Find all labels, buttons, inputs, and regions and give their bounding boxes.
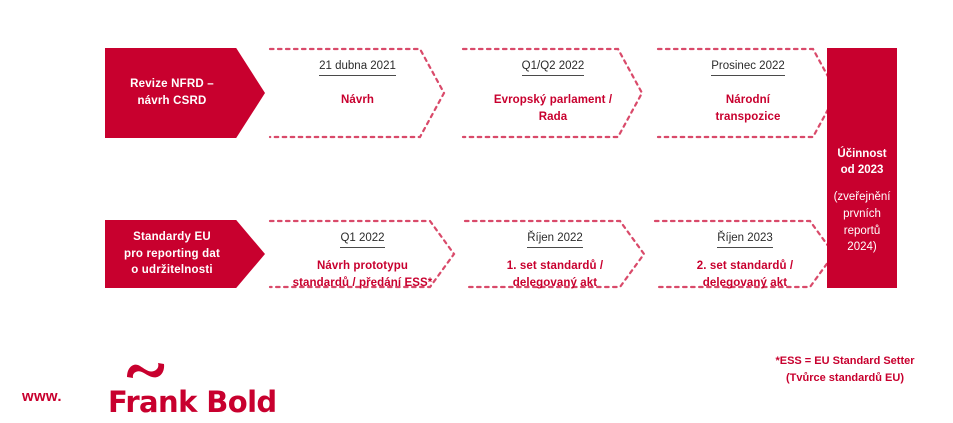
outcome-sub-line2: prvních (843, 208, 881, 220)
stage-csrd-2: Q1/Q2 2022 Evropský parlament / Rada (463, 48, 643, 138)
stage-date: Říjen 2023 (717, 231, 773, 248)
outcome-sub-line4: 2024) (847, 241, 876, 253)
stage-body-line2: delegovaný akt (513, 277, 598, 289)
stage-date: Q1 2022 (340, 231, 384, 248)
stage-body-line2: delegovaný akt (703, 277, 788, 289)
frank-bold-ribbon-icon (124, 360, 166, 382)
stage-body: Národní transpozice (707, 92, 788, 125)
row-label-standards-line3: o udržitelnosti (124, 262, 220, 279)
www-text: www. (22, 388, 62, 405)
stage-body: Evropský parlament / Rada (486, 92, 620, 125)
stage-body: 1. set standardů / delegovaný akt (499, 258, 611, 291)
footnote-line2: (Tvůrce standardů EU) (786, 372, 904, 384)
footnote: *ESS = EU Standard Setter (Tvůrce standa… (750, 353, 940, 386)
timeline-diagram: Revize NFRD – návrh CSRD 21 dubna 2021 N… (0, 0, 953, 423)
stage-body: 2. set standardů / delegovaný akt (689, 258, 801, 291)
stage-body-line2: transpozice (715, 111, 780, 123)
stage-date: Prosinec 2022 (711, 59, 785, 76)
stage-body-line1: Návrh prototypu (317, 260, 408, 272)
stage-standards-1: Q1 2022 Návrh prototypu standardů / před… (270, 220, 455, 288)
outcome-sub-line1: (zveřejnění (834, 191, 891, 203)
stage-body: Návrh prototypu standardů / předání ESS* (285, 258, 441, 291)
outcome-subtitle: (zveřejnění prvních reportů 2024) (834, 189, 891, 256)
outcome-title: Účinnost od 2023 (837, 146, 886, 178)
frank-bold-wordmark: Frank Bold (108, 388, 277, 417)
stage-body-line2: standardů / předání ESS* (293, 277, 433, 289)
stage-body-line1: 2. set standardů / (697, 260, 793, 272)
row-label-standards: Standardy EU pro reporting dat o udržite… (105, 220, 265, 288)
stage-date: 21 dubna 2021 (319, 59, 396, 76)
stage-date: Q1/Q2 2022 (522, 59, 585, 76)
stage-date: Říjen 2022 (527, 231, 583, 248)
row-label-csrd: Revize NFRD – návrh CSRD (105, 48, 265, 138)
stage-body-line1: Národní (726, 94, 770, 106)
stage-standards-3: Říjen 2023 2. set standardů / delegovaný… (655, 220, 835, 288)
stage-body-line1: 1. set standardů / (507, 260, 603, 272)
outcome-title-line2: od 2023 (841, 164, 884, 176)
frank-bold-logo: Frank Bold (108, 360, 277, 417)
stage-csrd-1: 21 dubna 2021 Návrh (270, 48, 445, 138)
stage-standards-2: Říjen 2022 1. set standardů / delegovaný… (465, 220, 645, 288)
outcome-title-line1: Účinnost (837, 148, 886, 160)
footnote-line1: *ESS = EU Standard Setter (775, 355, 914, 367)
stage-csrd-3: Prosinec 2022 Národní transpozice (658, 48, 838, 138)
row-label-csrd-line1: Revize NFRD – (130, 76, 214, 93)
stage-body-line2: Rada (539, 111, 568, 123)
outcome-sub-line3: reportů (844, 225, 880, 237)
row-label-standards-line1: Standardy EU (124, 229, 220, 246)
stage-body: Návrh (333, 92, 382, 109)
row-label-csrd-line2: návrh CSRD (130, 93, 214, 110)
stage-body-line1: Návrh (341, 94, 374, 106)
stage-body-line1: Evropský parlament / (494, 94, 612, 106)
row-label-standards-line2: pro reporting dat (124, 246, 220, 263)
